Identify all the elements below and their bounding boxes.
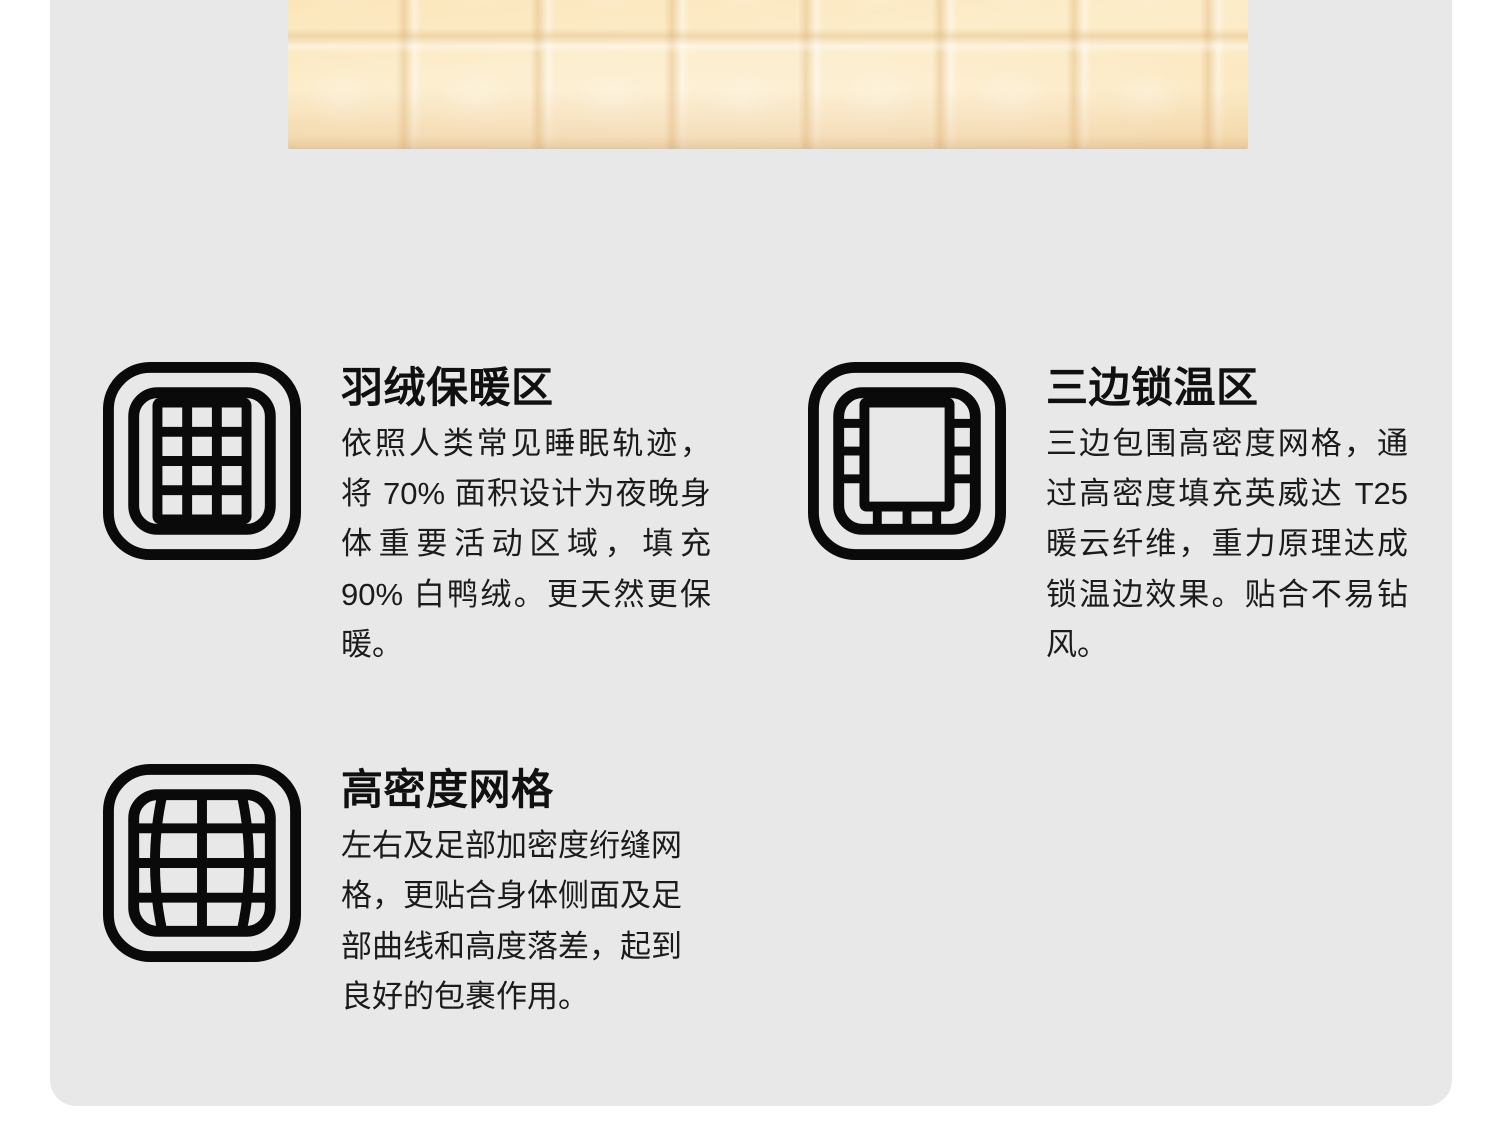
feature-list: 羽绒保暖区 依照人类常见睡眠轨迹，将 70% 面积设计为夜晚身体重要活动区域，填… bbox=[103, 362, 1418, 1022]
feature-down-warm-zone: 羽绒保暖区 依照人类常见睡眠轨迹，将 70% 面积设计为夜晚身体重要活动区域，填… bbox=[103, 362, 808, 670]
feature-title: 羽绒保暖区 bbox=[341, 364, 808, 411]
feature-text-block: 羽绒保暖区 依照人类常见睡眠轨迹，将 70% 面积设计为夜晚身体重要活动区域，填… bbox=[341, 362, 808, 670]
feature-title: 高密度网格 bbox=[341, 766, 808, 813]
three-side-heat-lock-zone-icon bbox=[808, 362, 1006, 560]
high-density-grid-icon bbox=[103, 764, 301, 962]
feature-description: 左右及足部加密度绗缝网格，更贴合身体侧面及足部曲线和高度落差，起到良好的包裹作用… bbox=[341, 821, 709, 1022]
feature-high-density-grid: 高密度网格 左右及足部加密度绗缝网格，更贴合身体侧面及足部曲线和高度落差，起到良… bbox=[103, 764, 808, 1022]
feature-title: 三边锁温区 bbox=[1046, 364, 1418, 411]
feature-three-side-heat-lock: 三边锁温区 三边包围高密度网格，通过高密度填充英威达 T25 暖云纤维，重力原理… bbox=[808, 362, 1418, 670]
feature-placeholder bbox=[808, 764, 1418, 1022]
feature-row-1: 羽绒保暖区 依照人类常见睡眠轨迹，将 70% 面积设计为夜晚身体重要活动区域，填… bbox=[103, 362, 1418, 670]
feature-text-block: 三边锁温区 三边包围高密度网格，通过高密度填充英威达 T25 暖云纤维，重力原理… bbox=[1046, 362, 1418, 670]
feature-text-block: 高密度网格 左右及足部加密度绗缝网格，更贴合身体侧面及足部曲线和高度落差，起到良… bbox=[341, 764, 808, 1022]
row-spacer bbox=[103, 670, 1418, 764]
down-warm-zone-grid-icon bbox=[103, 362, 301, 560]
feature-row-2: 高密度网格 左右及足部加密度绗缝网格，更贴合身体侧面及足部曲线和高度落差，起到良… bbox=[103, 764, 1418, 1022]
feature-description: 依照人类常见睡眠轨迹，将 70% 面积设计为夜晚身体重要活动区域，填充 90% … bbox=[341, 419, 711, 670]
quilted-duvet-photo bbox=[288, 0, 1248, 149]
content-panel: 羽绒保暖区 依照人类常见睡眠轨迹，将 70% 面积设计为夜晚身体重要活动区域，填… bbox=[50, 0, 1452, 1106]
feature-description: 三边包围高密度网格，通过高密度填充英威达 T25 暖云纤维，重力原理达成锁温边效… bbox=[1046, 419, 1408, 670]
duvet-bottom-shadow bbox=[288, 89, 1248, 149]
